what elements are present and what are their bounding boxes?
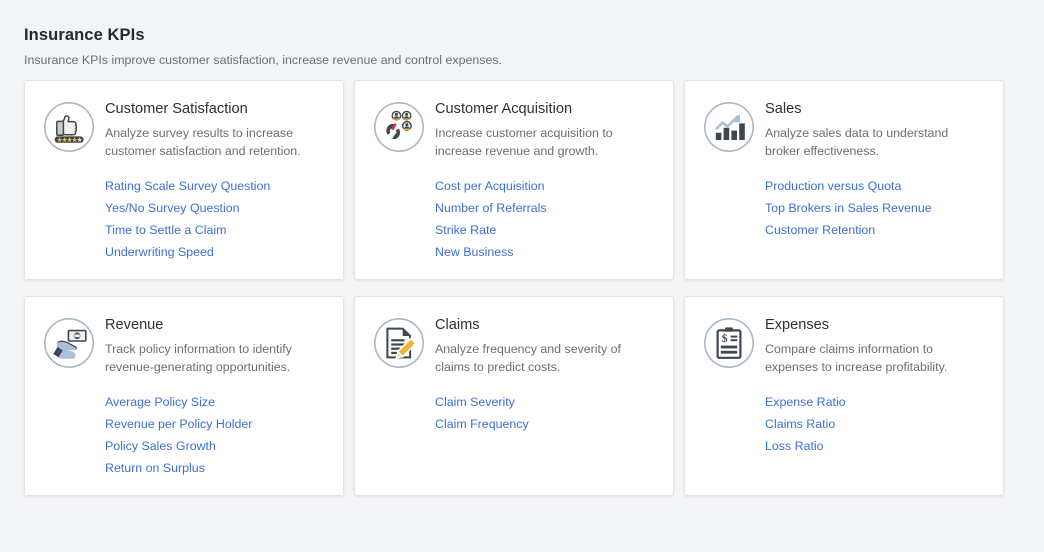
kpi-link[interactable]: New Business: [435, 241, 657, 263]
kpi-link-list: Claim SeverityClaim Frequency: [435, 391, 657, 435]
kpi-link[interactable]: Expense Ratio: [765, 391, 987, 413]
kpi-link[interactable]: Claims Ratio: [765, 413, 987, 435]
kpi-card-title: Claims: [435, 316, 657, 335]
thumbs-up-rating-icon: [43, 101, 95, 153]
kpi-link-list: Average Policy SizeRevenue per Policy Ho…: [105, 391, 327, 479]
bar-chart-growth-arrow-icon: [703, 101, 755, 153]
kpi-card: SalesAnalyze sales data to understand br…: [684, 80, 1004, 280]
kpi-link[interactable]: Top Brokers in Sales Revenue: [765, 197, 987, 219]
kpi-link[interactable]: Return on Surplus: [105, 457, 327, 479]
kpi-card-body: Customer AcquisitionIncrease customer ac…: [435, 99, 657, 263]
kpi-card-body: ExpensesCompare claims information to ex…: [765, 315, 987, 457]
kpi-card-title: Customer Acquisition: [435, 100, 657, 119]
kpi-link[interactable]: Cost per Acquisition: [435, 175, 657, 197]
kpi-link[interactable]: Average Policy Size: [105, 391, 327, 413]
kpi-link[interactable]: Yes/No Survey Question: [105, 197, 327, 219]
kpi-card-description: Compare claims information to expenses t…: [765, 341, 980, 376]
kpi-link[interactable]: Loss Ratio: [765, 435, 987, 457]
kpi-link[interactable]: Strike Rate: [435, 219, 657, 241]
kpi-link[interactable]: Number of Referrals: [435, 197, 657, 219]
kpi-card: Customer AcquisitionIncrease customer ac…: [354, 80, 674, 280]
kpi-card: ClaimsAnalyze frequency and severity of …: [354, 296, 674, 496]
kpi-card: RevenueTrack policy information to ident…: [24, 296, 344, 496]
kpi-card-title: Sales: [765, 100, 987, 119]
kpi-link[interactable]: Claim Severity: [435, 391, 657, 413]
kpi-link-list: Rating Scale Survey QuestionYes/No Surve…: [105, 175, 327, 263]
kpi-link[interactable]: Production versus Quota: [765, 175, 987, 197]
kpi-card-body: SalesAnalyze sales data to understand br…: [765, 99, 987, 241]
magnet-attracting-coins-icon: [373, 101, 425, 153]
kpi-link[interactable]: Customer Retention: [765, 219, 987, 241]
kpi-card-description: Increase customer acquisition to increas…: [435, 125, 650, 160]
kpi-link-list: Expense RatioClaims RatioLoss Ratio: [765, 391, 987, 457]
kpi-card-title: Customer Satisfaction: [105, 100, 327, 119]
page-title: Insurance KPIs: [24, 26, 1022, 45]
kpi-link[interactable]: Policy Sales Growth: [105, 435, 327, 457]
kpi-card-body: ClaimsAnalyze frequency and severity of …: [435, 315, 657, 435]
hand-holding-banknote-icon: [43, 317, 95, 369]
page-subtitle: Insurance KPIs improve customer satisfac…: [24, 52, 1022, 68]
kpi-card: Customer SatisfactionAnalyze survey resu…: [24, 80, 344, 280]
kpi-card-title: Expenses: [765, 316, 987, 335]
invoice-dollar-clipboard-icon: $: [703, 317, 755, 369]
kpi-card-grid: Customer SatisfactionAnalyze survey resu…: [24, 80, 1022, 496]
document-pencil-icon: [373, 317, 425, 369]
kpi-card-description: Analyze survey results to increase custo…: [105, 125, 320, 160]
kpi-link[interactable]: Claim Frequency: [435, 413, 657, 435]
kpi-card: $ExpensesCompare claims information to e…: [684, 296, 1004, 496]
svg-text:$: $: [722, 332, 728, 345]
kpi-card-body: RevenueTrack policy information to ident…: [105, 315, 327, 479]
kpi-card-description: Analyze sales data to understand broker …: [765, 125, 980, 160]
kpi-card-title: Revenue: [105, 316, 327, 335]
kpi-link[interactable]: Time to Settle a Claim: [105, 219, 327, 241]
kpi-link-list: Cost per AcquisitionNumber of ReferralsS…: [435, 175, 657, 263]
kpi-card-description: Track policy information to identify rev…: [105, 341, 320, 376]
kpi-link[interactable]: Underwriting Speed: [105, 241, 327, 263]
kpi-link[interactable]: Rating Scale Survey Question: [105, 175, 327, 197]
kpi-link-list: Production versus QuotaTop Brokers in Sa…: [765, 175, 987, 241]
kpi-card-body: Customer SatisfactionAnalyze survey resu…: [105, 99, 327, 263]
kpi-card-description: Analyze frequency and severity of claims…: [435, 341, 650, 376]
kpi-link[interactable]: Revenue per Policy Holder: [105, 413, 327, 435]
insurance-kpis-page: Insurance KPIs Insurance KPIs improve cu…: [0, 0, 1044, 552]
